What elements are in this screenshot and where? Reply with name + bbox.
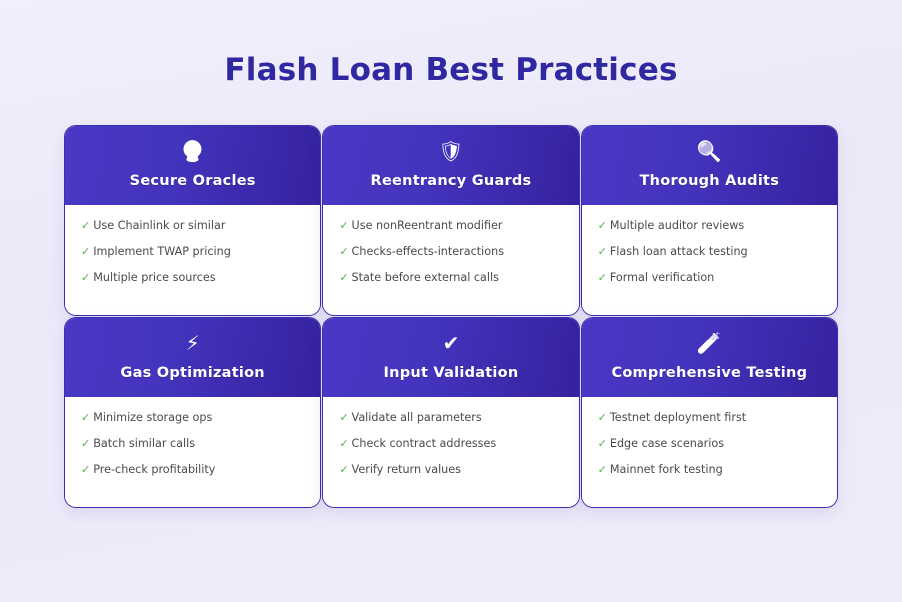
- list-item: ✓ Checks-effects-interactions: [339, 245, 562, 259]
- list-item-label: Batch similar calls: [93, 437, 304, 451]
- crystal-ball-icon: 🔮: [74, 141, 311, 163]
- check-icon: ✓: [598, 245, 607, 259]
- practice-card-gas-optimization[interactable]: ⚡ Gas Optimization ✓ Minimize storage op…: [64, 317, 321, 508]
- list-item: ✓ Check contract addresses: [339, 437, 562, 451]
- check-icon: ✓: [81, 219, 90, 233]
- card-title: Comprehensive Testing: [591, 365, 828, 382]
- list-item: ✓ Testnet deployment first: [598, 411, 821, 425]
- magnifying-glass-icon: 🔍: [591, 141, 828, 163]
- card-body: ✓ Minimize storage ops ✓ Batch similar c…: [65, 397, 320, 508]
- list-item: ✓ Multiple auditor reviews: [598, 219, 821, 233]
- card-body: ✓ Use nonReentrant modifier ✓ Checks-eff…: [323, 205, 578, 316]
- card-header: ⚡ Gas Optimization: [64, 317, 321, 396]
- list-item-label: Check contract addresses: [352, 437, 563, 451]
- page-title: Flash Loan Best Practices: [64, 0, 838, 89]
- practices-grid: 🔮 Secure Oracles ✓ Use Chainlink or simi…: [64, 125, 838, 508]
- list-item-label: Testnet deployment first: [610, 411, 821, 425]
- card-title: Secure Oracles: [74, 173, 311, 190]
- list-item-label: Flash loan attack testing: [610, 245, 821, 259]
- list-item-label: Multiple price sources: [93, 271, 304, 285]
- list-item-label: Use nonReentrant modifier: [352, 219, 563, 233]
- check-icon: ✓: [339, 437, 348, 451]
- check-icon: ✓: [598, 271, 607, 285]
- list-item-label: Implement TWAP pricing: [93, 245, 304, 259]
- checkmark-icon: ✔: [332, 333, 569, 355]
- practice-card-reentrancy-guards[interactable]: 🛡 Reentrancy Guards ✓ Use nonReentrant m…: [322, 125, 579, 316]
- card-header: 🔍 Thorough Audits: [581, 125, 838, 204]
- list-item: ✓ Use nonReentrant modifier: [339, 219, 562, 233]
- card-header: 🧪 Comprehensive Testing: [581, 317, 838, 396]
- lightning-bolt-icon: ⚡: [74, 333, 311, 355]
- card-title: Reentrancy Guards: [332, 173, 569, 190]
- card-body: ✓ Validate all parameters ✓ Check contra…: [323, 397, 578, 508]
- list-item-label: Use Chainlink or similar: [93, 219, 304, 233]
- check-icon: ✓: [339, 219, 348, 233]
- best-practices-page: Flash Loan Best Practices 🔮 Secure Oracl…: [0, 0, 902, 602]
- list-item: ✓ Mainnet fork testing: [598, 463, 821, 477]
- list-item-label: Edge case scenarios: [610, 437, 821, 451]
- check-icon: ✓: [81, 411, 90, 425]
- list-item: ✓ Verify return values: [339, 463, 562, 477]
- check-icon: ✓: [598, 437, 607, 451]
- check-icon: ✓: [81, 437, 90, 451]
- check-icon: ✓: [339, 245, 348, 259]
- check-icon: ✓: [598, 463, 607, 477]
- list-item: ✓ Formal verification: [598, 271, 821, 285]
- check-icon: ✓: [598, 411, 607, 425]
- list-item-label: Multiple auditor reviews: [610, 219, 821, 233]
- check-icon: ✓: [339, 271, 348, 285]
- list-item: ✓ Pre-check profitability: [81, 463, 304, 477]
- check-icon: ✓: [339, 463, 348, 477]
- card-header: ✔ Input Validation: [322, 317, 579, 396]
- practice-card-input-validation[interactable]: ✔ Input Validation ✓ Validate all parame…: [322, 317, 579, 508]
- list-item-label: Mainnet fork testing: [610, 463, 821, 477]
- list-item: ✓ Use Chainlink or similar: [81, 219, 304, 233]
- list-item: ✓ Validate all parameters: [339, 411, 562, 425]
- list-item-label: Pre-check profitability: [93, 463, 304, 477]
- card-header: 🔮 Secure Oracles: [64, 125, 321, 204]
- list-item: ✓ Edge case scenarios: [598, 437, 821, 451]
- practice-card-thorough-audits[interactable]: 🔍 Thorough Audits ✓ Multiple auditor rev…: [581, 125, 838, 316]
- check-icon: ✓: [81, 245, 90, 259]
- card-body: ✓ Use Chainlink or similar ✓ Implement T…: [65, 205, 320, 316]
- card-body: ✓ Multiple auditor reviews ✓ Flash loan …: [582, 205, 837, 316]
- card-body: ✓ Testnet deployment first ✓ Edge case s…: [582, 397, 837, 508]
- list-item: ✓ Implement TWAP pricing: [81, 245, 304, 259]
- check-icon: ✓: [81, 271, 90, 285]
- card-title: Input Validation: [332, 365, 569, 382]
- list-item: ✓ State before external calls: [339, 271, 562, 285]
- list-item-label: Minimize storage ops: [93, 411, 304, 425]
- shield-icon: 🛡: [332, 141, 569, 163]
- list-item-label: Checks-effects-interactions: [352, 245, 563, 259]
- card-title: Thorough Audits: [591, 173, 828, 190]
- list-item: ✓ Minimize storage ops: [81, 411, 304, 425]
- practice-card-secure-oracles[interactable]: 🔮 Secure Oracles ✓ Use Chainlink or simi…: [64, 125, 321, 316]
- card-title: Gas Optimization: [74, 365, 311, 382]
- practice-card-comprehensive-testing[interactable]: 🧪 Comprehensive Testing ✓ Testnet deploy…: [581, 317, 838, 508]
- check-icon: ✓: [81, 463, 90, 477]
- check-icon: ✓: [598, 219, 607, 233]
- list-item: ✓ Flash loan attack testing: [598, 245, 821, 259]
- list-item: ✓ Multiple price sources: [81, 271, 304, 285]
- card-header: 🛡 Reentrancy Guards: [322, 125, 579, 204]
- test-tube-icon: 🧪: [591, 333, 828, 355]
- list-item-label: State before external calls: [352, 271, 563, 285]
- list-item-label: Verify return values: [352, 463, 563, 477]
- list-item-label: Formal verification: [610, 271, 821, 285]
- check-icon: ✓: [339, 411, 348, 425]
- list-item: ✓ Batch similar calls: [81, 437, 304, 451]
- list-item-label: Validate all parameters: [352, 411, 563, 425]
